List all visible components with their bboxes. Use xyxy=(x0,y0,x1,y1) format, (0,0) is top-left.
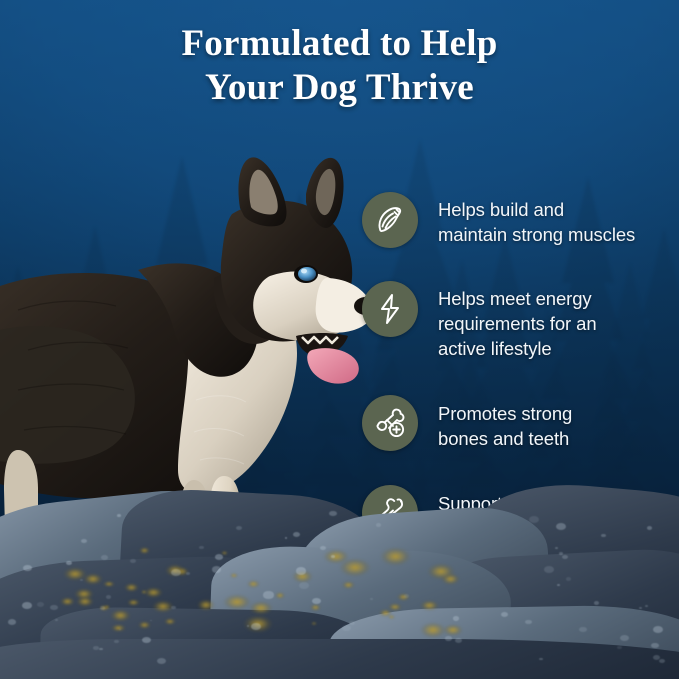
lichen-speck xyxy=(659,659,665,663)
feature-text-line-1: Helps meet energy xyxy=(438,288,592,309)
moss-patch xyxy=(144,587,162,598)
feature-text-line-1: Promotes strong xyxy=(438,403,572,424)
lichen-speck xyxy=(566,577,572,581)
lichen-speck xyxy=(93,646,98,650)
feature-item-bones: Promotes strong bones and teeth xyxy=(362,395,662,452)
lichen-speck xyxy=(617,646,621,649)
feature-text-line-2: requirements for an xyxy=(438,313,597,334)
feature-text-line-2: bones and teeth xyxy=(438,428,569,449)
lichen-speck xyxy=(529,516,540,523)
moss-patch xyxy=(275,592,286,598)
bone-plus-icon xyxy=(373,406,407,440)
rock xyxy=(0,639,679,679)
lichen-speck xyxy=(342,625,351,631)
lichen-speck xyxy=(312,598,320,604)
lightning-bolt-icon xyxy=(373,292,407,326)
lichen-speck xyxy=(142,637,150,643)
feature-item-energy: Helps meet energy requirements for an ac… xyxy=(362,281,662,362)
moss-patch xyxy=(420,622,446,637)
feature-text-line-2: maintain strong muscles xyxy=(438,224,635,245)
feature-text: Helps build and maintain strong muscles xyxy=(438,192,635,248)
moss-patch xyxy=(380,547,411,566)
lichen-speck xyxy=(80,579,83,581)
moss-patch xyxy=(152,600,174,613)
headline-line-2: Your Dog Thrive xyxy=(90,66,589,110)
lichen-speck xyxy=(539,658,543,660)
moss-patch xyxy=(420,600,439,611)
moss-patch xyxy=(83,573,104,585)
feature-icon-badge xyxy=(362,281,418,337)
feature-icon-badge xyxy=(362,192,418,248)
lichen-speck xyxy=(557,584,559,586)
lichen-speck xyxy=(251,623,261,630)
feature-item-muscles: Helps build and maintain strong muscles xyxy=(362,192,662,248)
lichen-speck xyxy=(562,555,568,559)
feature-icon-badge xyxy=(362,395,418,451)
lichen-speck xyxy=(559,552,563,555)
lichen-speck xyxy=(370,598,372,600)
lichen-speck xyxy=(445,636,452,641)
lichen-speck xyxy=(106,595,111,599)
moss-patch xyxy=(139,547,150,553)
lichen-speck xyxy=(620,635,629,641)
moss-patch xyxy=(76,596,94,607)
feature-text: Helps meet energy requirements for an ac… xyxy=(438,281,597,362)
headline: Formulated to Help Your Dog Thrive xyxy=(0,22,679,109)
lichen-speck xyxy=(653,655,660,660)
moss-patch xyxy=(443,624,463,636)
lichen-speck xyxy=(50,605,58,611)
lichen-speck xyxy=(37,602,44,607)
moss-patch xyxy=(197,599,215,610)
lichen-speck xyxy=(247,625,249,627)
rocky-ground xyxy=(0,489,679,679)
lichen-speck xyxy=(263,591,273,598)
feature-text-line-3: active lifestyle xyxy=(438,338,552,359)
lichen-speck xyxy=(119,629,121,631)
lichen-speck xyxy=(455,638,462,643)
lichen-speck xyxy=(186,572,190,575)
moss-patch xyxy=(60,597,75,606)
headline-line-1: Formulated to Help xyxy=(181,23,497,64)
moss-patch xyxy=(342,581,355,589)
lichen-speck xyxy=(101,555,108,560)
moss-patch xyxy=(138,621,151,629)
lichen-speck xyxy=(544,566,554,573)
lichen-speck xyxy=(117,514,121,517)
moss-patch xyxy=(310,604,321,611)
lichen-speck xyxy=(22,602,32,609)
feature-text-line-1: Helps build and xyxy=(438,199,564,220)
lichen-speck xyxy=(171,569,181,576)
product-feature-banner: Formulated to Help Your Dog Thrive Helps xyxy=(0,0,679,679)
lichen-speck xyxy=(171,606,176,609)
lichen-speck xyxy=(647,526,652,530)
lichen-speck xyxy=(296,567,307,575)
lichen-speck xyxy=(453,616,459,620)
feature-text: Promotes strong bones and teeth xyxy=(438,395,572,452)
muscle-icon xyxy=(373,203,407,237)
moss-patch xyxy=(127,599,139,606)
moss-patch xyxy=(124,583,139,592)
lichen-speck xyxy=(212,566,222,573)
lichen-speck xyxy=(23,565,31,571)
lichen-speck xyxy=(130,559,136,563)
